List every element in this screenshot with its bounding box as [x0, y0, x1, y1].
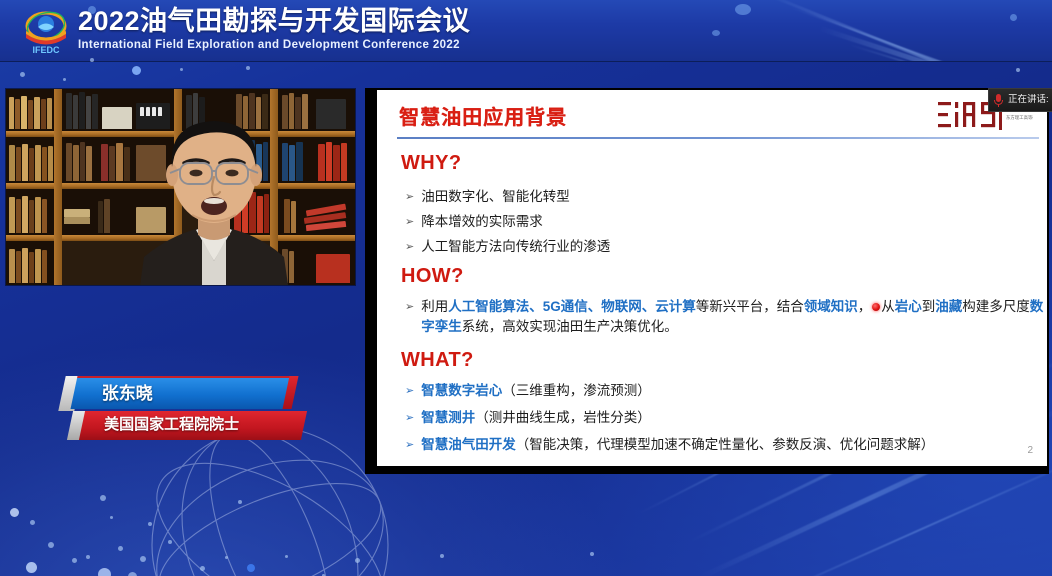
bullet-arrow-icon: ➢ [405, 237, 414, 257]
conference-banner: IFEDC 2022油气田勘探与开发国际会议 International Fie… [0, 0, 1052, 62]
plain-text: （三维重构，渗流预测） [502, 383, 651, 398]
section-heading-how: HOW? [401, 265, 464, 288]
speaking-indicator-overlay[interactable]: 正在讲话: 张 [988, 88, 1052, 112]
bullet-what-2: ➢ 智慧测井（测井曲线生成，岩性分类） [405, 408, 1025, 428]
bullet-why-2: ➢ 降本增效的实际需求 [405, 212, 835, 232]
title-divider [397, 137, 1039, 139]
eias-sub2: 东方理工高等研究院 [1006, 114, 1033, 121]
bullet-arrow-icon: ➢ [405, 435, 414, 455]
speaker-name: 张东晓 [74, 378, 294, 409]
conference-stream-screen: IFEDC 2022油气田勘探与开发国际会议 International Fie… [0, 0, 1052, 576]
bullet-text-rich: 智慧数字岩心（三维重构，渗流预测） [421, 381, 1025, 401]
highlighted-term: 智慧油气田开发 [421, 437, 516, 452]
highlighted-term: 智慧测井 [421, 410, 475, 425]
section-heading-what: WHAT? [401, 349, 474, 372]
bullet-how-1: ➢ 利用人工智能算法、5G通信、物联网、云计算等新兴平台，结合领域知识，从岩心到… [405, 297, 1045, 337]
bullet-text: 人工智能方法向传统行业的渗透 [421, 237, 835, 257]
bullet-why-1: ➢ 油田数字化、智能化转型 [405, 187, 835, 207]
microphone-icon [993, 93, 1004, 108]
bullet-what-1: ➢ 智慧数字岩心（三维重构，渗流预测） [405, 381, 1025, 401]
conference-title-en: International Field Exploration and Deve… [78, 38, 718, 52]
bullet-text-rich: 智慧测井（测井曲线生成，岩性分类） [421, 408, 1025, 428]
plain-text: 等新兴平台，结合 [696, 299, 804, 314]
plain-text: 系统，高效实现油田生产决策优化。 [462, 319, 678, 334]
nameplate-title-bar: 美国国家工程院院士 [79, 411, 307, 440]
bullet-arrow-icon: ➢ [405, 212, 414, 232]
slide-frame[interactable]: 智慧油田应用背景 [365, 88, 1049, 474]
laser-pointer-dot [872, 303, 880, 311]
plain-text: ， [858, 299, 872, 314]
bullet-arrow-icon: ➢ [405, 381, 414, 401]
highlighted-term: 岩心 [895, 299, 922, 314]
highlighted-term: 人工智能算法、5G通信、物联网、云计算 [448, 299, 696, 314]
bullet-why-3: ➢ 人工智能方法向传统行业的渗透 [405, 237, 835, 257]
bullet-what-3: ➢ 智慧油气田开发（智能决策，代理模型加速不确定性量化、参数反演、优化问题求解） [405, 435, 1045, 455]
plain-text: （测井曲线生成，岩性分类） [475, 410, 651, 425]
section-heading-why: WHY? [401, 152, 461, 175]
highlighted-term: 智慧数字岩心 [421, 383, 502, 398]
speaker-nameplate: 张东晓 美国国家工程院院士 [62, 376, 312, 444]
bullet-arrow-icon: ➢ [405, 408, 414, 428]
svg-text:IFEDC: IFEDC [33, 45, 61, 55]
plain-text: 从 [881, 299, 895, 314]
ifedc-logo-icon: IFEDC [20, 7, 72, 55]
plain-text: （智能决策，代理模型加速不确定性量化、参数反演、优化问题求解） [516, 437, 935, 452]
slide-title: 智慧油田应用背景 [399, 101, 567, 130]
highlighted-term: 油藏 [935, 299, 962, 314]
speaker-portrait [134, 111, 294, 285]
bullet-text-rich: 利用人工智能算法、5G通信、物联网、云计算等新兴平台，结合领域知识，从岩心到油藏… [421, 297, 1045, 337]
bullet-text: 油田数字化、智能化转型 [421, 187, 835, 207]
nameplate-name-bar: 张东晓 [70, 376, 297, 409]
plain-text: 构建多尺度 [962, 299, 1030, 314]
bullet-text-rich: 智慧油气田开发（智能决策，代理模型加速不确定性量化、参数反演、优化问题求解） [421, 435, 1045, 455]
highlighted-term: 领域知识 [804, 299, 858, 314]
plain-text: 利用 [421, 299, 448, 314]
presentation-slide[interactable]: 智慧油田应用背景 [377, 90, 1047, 466]
slide-page-number: 2 [1027, 445, 1033, 456]
speaker-video-tile[interactable] [6, 89, 355, 285]
conference-title-cn: 2022油气田勘探与开发国际会议 [78, 5, 718, 37]
speaker-title: 美国国家工程院院士 [82, 411, 304, 439]
plain-text: 到 [922, 299, 936, 314]
banner-text-block: 2022油气田勘探与开发国际会议 International Field Exp… [78, 5, 718, 52]
bullet-arrow-icon: ➢ [405, 187, 414, 207]
speaking-label: 正在讲话: 张 [1008, 94, 1048, 106]
bullet-arrow-icon: ➢ [405, 297, 414, 317]
bullet-text: 降本增效的实际需求 [421, 212, 835, 232]
